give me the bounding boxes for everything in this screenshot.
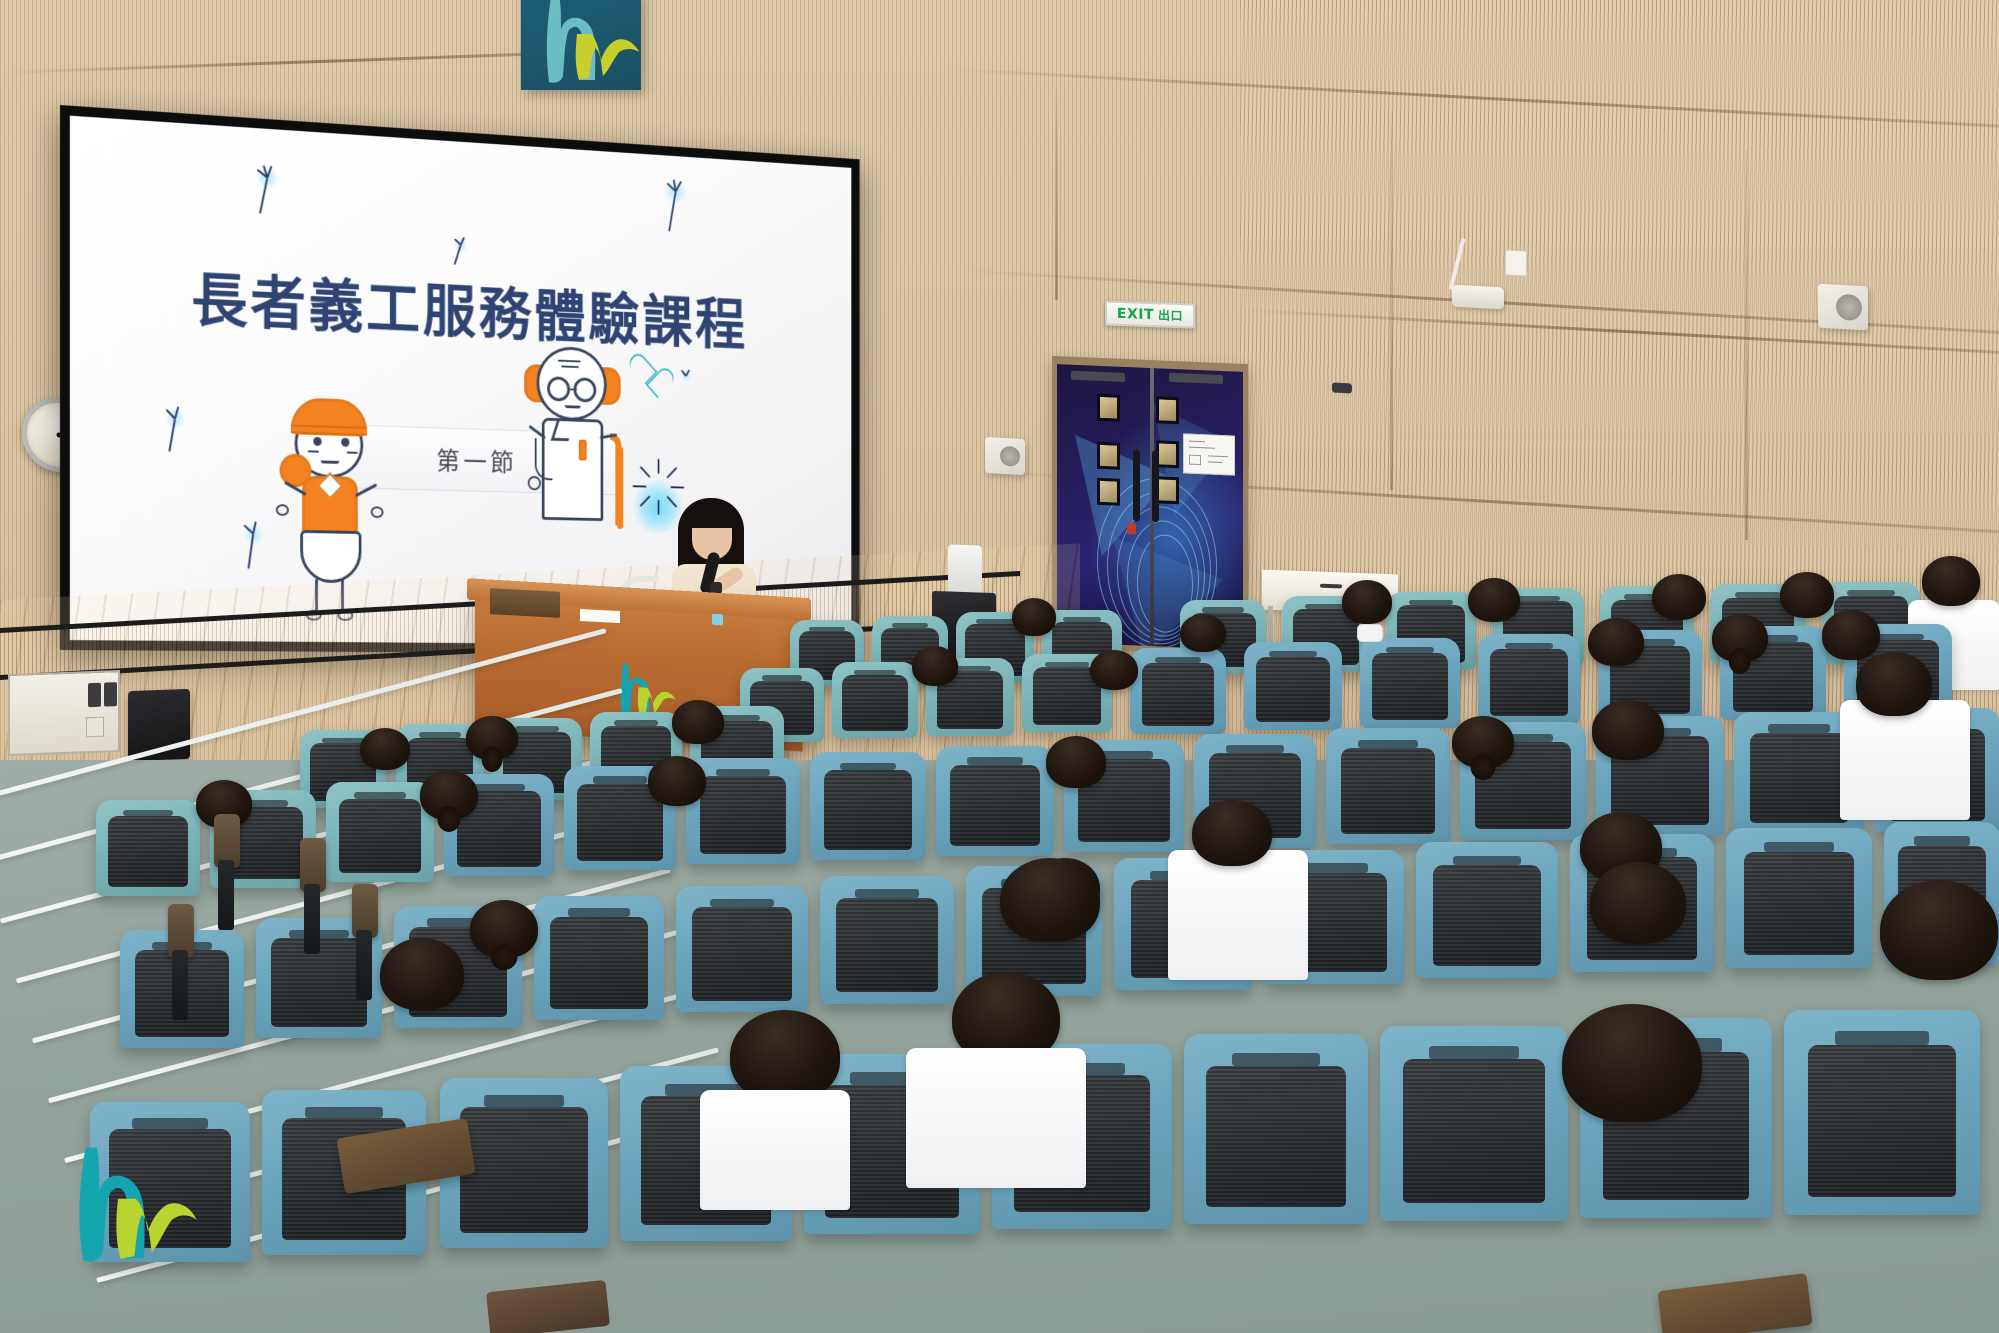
seat[interactable] bbox=[326, 782, 434, 882]
seat[interactable] bbox=[832, 662, 918, 738]
podium-small-item bbox=[712, 614, 723, 626]
audience-head bbox=[1652, 574, 1706, 620]
audience-head bbox=[470, 900, 538, 958]
presenter-hair-fringe bbox=[688, 506, 736, 528]
seat[interactable] bbox=[820, 876, 954, 1004]
podium-paper bbox=[580, 609, 620, 623]
audience-head bbox=[1468, 578, 1520, 622]
wall-speaker bbox=[985, 437, 1025, 475]
seat[interactable] bbox=[1244, 642, 1342, 730]
door-closer-arm bbox=[1169, 373, 1223, 384]
woman-mouth bbox=[321, 460, 340, 463]
man-coat-pocket bbox=[579, 440, 587, 461]
podium-laptop[interactable] bbox=[490, 588, 560, 618]
motion-sensor bbox=[1452, 285, 1504, 310]
seat[interactable] bbox=[1360, 638, 1460, 728]
woman-skirt bbox=[300, 530, 361, 583]
av-switch[interactable] bbox=[88, 683, 101, 707]
wall-switch-box[interactable] bbox=[1505, 249, 1527, 276]
audience-head bbox=[360, 728, 410, 770]
cartoon-elderly-woman bbox=[280, 381, 382, 592]
seat[interactable] bbox=[676, 886, 808, 1012]
audience-head bbox=[730, 1010, 840, 1102]
face-mask bbox=[1357, 624, 1383, 642]
audience-head bbox=[1822, 610, 1880, 660]
wall-logo-plaque bbox=[521, 0, 641, 90]
audience-head bbox=[420, 770, 478, 820]
seat[interactable] bbox=[1380, 1026, 1568, 1221]
woman-eye-right bbox=[341, 438, 349, 447]
audience-head bbox=[1090, 650, 1138, 690]
woman-hand-left bbox=[276, 504, 289, 516]
audience-uniform bbox=[906, 1048, 1086, 1188]
seat[interactable] bbox=[96, 800, 200, 896]
exit-sign-zh: 出口 bbox=[1158, 306, 1183, 324]
seat[interactable] bbox=[1326, 728, 1450, 844]
man-stethoscope-bell bbox=[528, 476, 541, 491]
audience-head bbox=[1922, 556, 1980, 606]
seat[interactable] bbox=[936, 746, 1054, 856]
man-glasses-left bbox=[547, 376, 570, 401]
audience-head bbox=[1880, 880, 1998, 980]
floor-watermark-logo bbox=[48, 1135, 198, 1275]
audience-head bbox=[1046, 736, 1106, 788]
cartoon-elderly-man bbox=[519, 331, 629, 551]
seat[interactable] bbox=[1416, 842, 1558, 978]
logo-w-stroke bbox=[116, 1199, 196, 1259]
door-warning-label bbox=[1127, 523, 1136, 534]
woman-cheek-line bbox=[347, 452, 358, 454]
door-window bbox=[1156, 476, 1179, 504]
door-window bbox=[1097, 394, 1120, 422]
audience-head bbox=[648, 756, 706, 806]
audience-head bbox=[1592, 700, 1664, 760]
armrest bbox=[352, 884, 378, 938]
wall-speaker bbox=[1818, 284, 1868, 331]
man-stethoscope bbox=[535, 438, 553, 480]
door-window bbox=[1097, 442, 1120, 470]
seat[interactable] bbox=[1184, 1034, 1368, 1224]
audience-head bbox=[672, 700, 724, 744]
audience-head bbox=[912, 646, 958, 686]
woman-arm-right bbox=[355, 483, 377, 496]
slide-title: 長者義工服務體驗課程 bbox=[191, 253, 747, 360]
seat[interactable] bbox=[1130, 648, 1226, 734]
audience-head bbox=[1012, 598, 1056, 636]
woman-hand-right bbox=[371, 506, 384, 518]
armrest bbox=[214, 814, 240, 868]
heart-icon bbox=[631, 354, 662, 386]
man-cane-stem bbox=[617, 446, 623, 529]
audience-head bbox=[1588, 618, 1644, 666]
seat[interactable] bbox=[534, 896, 664, 1020]
wall-panel-split bbox=[1055, 90, 1058, 300]
audience-head bbox=[1192, 800, 1272, 866]
door-closer-arm bbox=[1071, 371, 1125, 382]
logo-w-stroke bbox=[576, 34, 639, 80]
door-window bbox=[1097, 478, 1120, 506]
audience-uniform bbox=[700, 1090, 850, 1210]
audience-head bbox=[1856, 652, 1932, 716]
door-window bbox=[1156, 440, 1179, 468]
audience-head bbox=[1180, 614, 1226, 652]
seat[interactable] bbox=[1726, 828, 1872, 968]
smoke-detector bbox=[1332, 382, 1352, 393]
door-notice-floorplan bbox=[1183, 433, 1235, 475]
woman-cheek-line bbox=[308, 450, 319, 452]
seat[interactable] bbox=[810, 752, 926, 860]
exit-sign: EXIT 出口 bbox=[1105, 300, 1195, 328]
audience-head bbox=[1000, 858, 1100, 942]
audience-head bbox=[1712, 614, 1768, 662]
armrest bbox=[300, 838, 326, 892]
audience-uniform bbox=[1840, 700, 1970, 820]
audience-head bbox=[1342, 580, 1392, 624]
lecture-hall-photo: 長者義工服務體驗課程 第一節 bbox=[0, 0, 1999, 1333]
man-mouth bbox=[565, 405, 581, 408]
audience-head bbox=[466, 716, 518, 760]
man-glasses-bridge bbox=[570, 388, 577, 390]
speaker-cone bbox=[1000, 446, 1020, 467]
armrest bbox=[168, 904, 194, 958]
seat[interactable] bbox=[1478, 634, 1580, 724]
door-handle-right[interactable] bbox=[1152, 450, 1159, 522]
audience-uniform bbox=[1168, 850, 1308, 980]
woman-eye-left bbox=[313, 437, 321, 446]
speaker-cone bbox=[1836, 294, 1862, 321]
door-handle-left[interactable] bbox=[1133, 449, 1140, 521]
audience-head bbox=[380, 938, 464, 1010]
exit-sign-en: EXIT bbox=[1117, 305, 1154, 322]
audience-head bbox=[1780, 572, 1834, 618]
seat[interactable] bbox=[1784, 1010, 1980, 1215]
door-window bbox=[1156, 396, 1179, 424]
audience-head bbox=[1590, 862, 1686, 944]
av-switch[interactable] bbox=[104, 682, 117, 706]
audience-head bbox=[1452, 716, 1514, 768]
table-item-pen bbox=[1320, 584, 1342, 589]
audience-head bbox=[1562, 1004, 1702, 1122]
sanitizer-bottle bbox=[948, 544, 982, 597]
